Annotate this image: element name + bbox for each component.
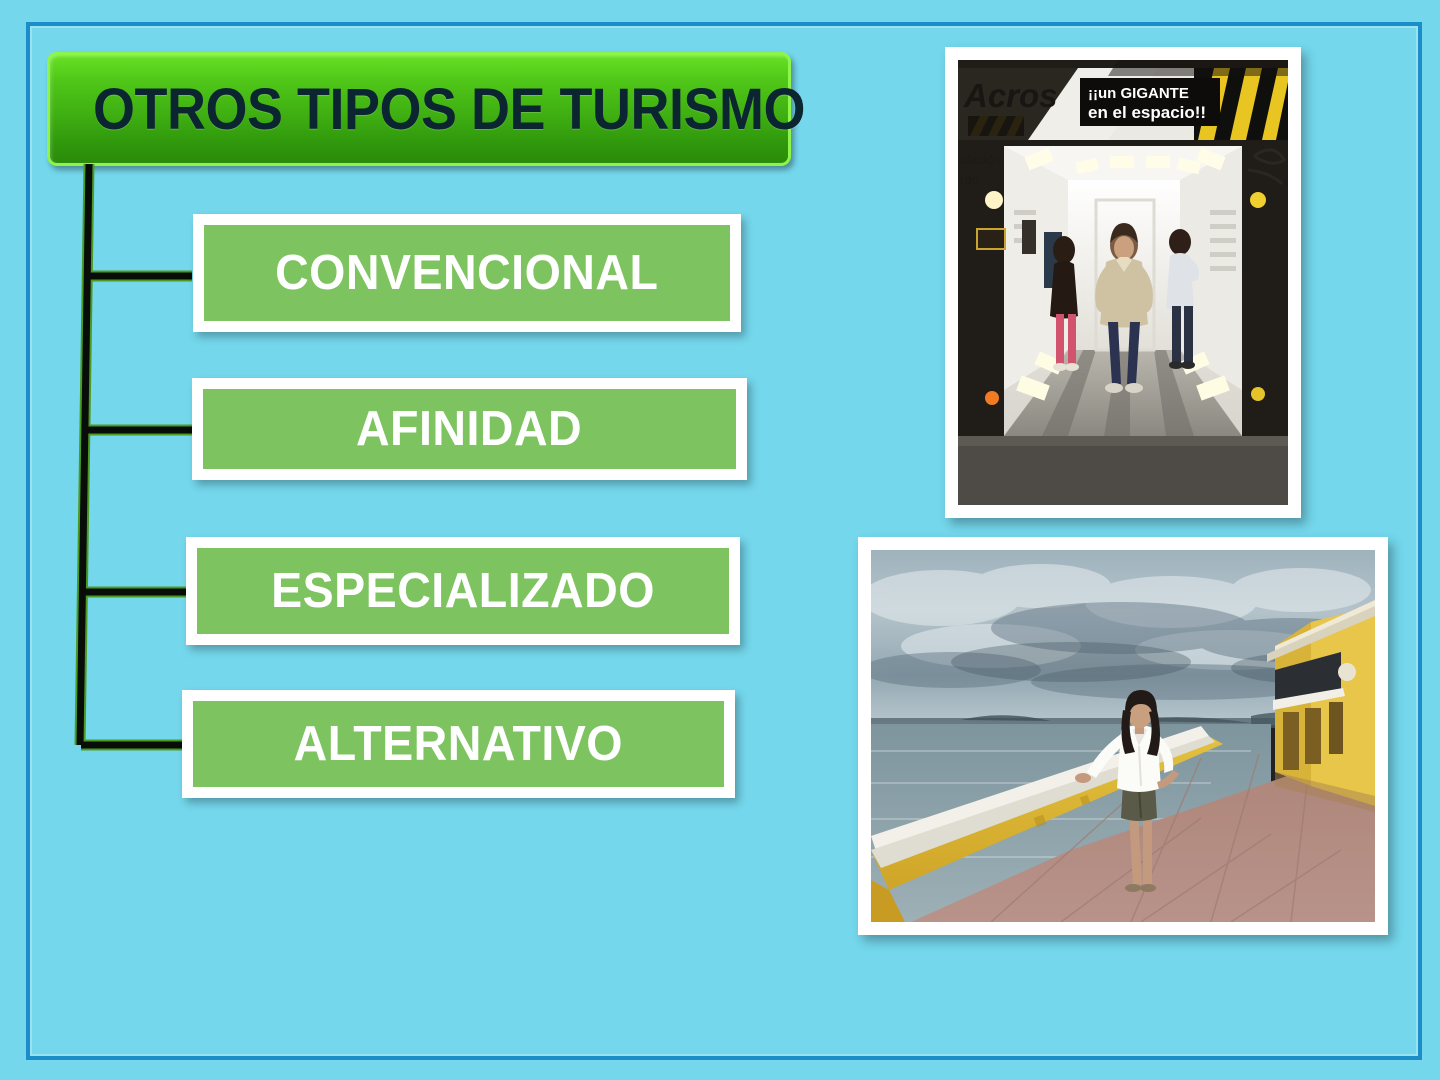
seaside-terrace-photo	[858, 537, 1388, 935]
space-exhibit-photo: Acros ¡¡un GIGANTE en el espacio!! ulaci…	[945, 47, 1301, 518]
branch-box-especializado[interactable]: ESPECIALIZADO	[186, 537, 740, 645]
seaside-terrace-photo-image	[871, 550, 1375, 922]
title-banner: OTROS TIPOS DE TURISMO	[47, 52, 791, 166]
photo-banner-line1: ¡¡un GIGANTE	[1088, 85, 1189, 102]
photo-side-text-1: ulación	[960, 152, 1001, 167]
branch-box-afinidad[interactable]: AFINIDAD	[192, 378, 747, 480]
space-exhibit-photo-image: Acros ¡¡un GIGANTE en el espacio!! ulaci…	[958, 60, 1288, 505]
photo-side-text-2: rdo	[960, 172, 979, 187]
branch-box-convencional[interactable]: CONVENCIONAL	[193, 214, 741, 332]
branch-label: ALTERNATIVO	[294, 716, 623, 772]
branch-label: ESPECIALIZADO	[271, 563, 655, 619]
page-title: OTROS TIPOS DE TURISMO	[93, 76, 805, 143]
branch-label: CONVENCIONAL	[275, 245, 658, 301]
photo-banner-brand: Acros	[963, 77, 1058, 114]
slide-canvas: OTROS TIPOS DE TURISMO CONVENCIONA	[0, 0, 1440, 1080]
branch-box-alternativo[interactable]: ALTERNATIVO	[182, 690, 735, 798]
photo-banner-line2: en el espacio!!	[1088, 103, 1206, 122]
branch-label: AFINIDAD	[356, 401, 582, 457]
